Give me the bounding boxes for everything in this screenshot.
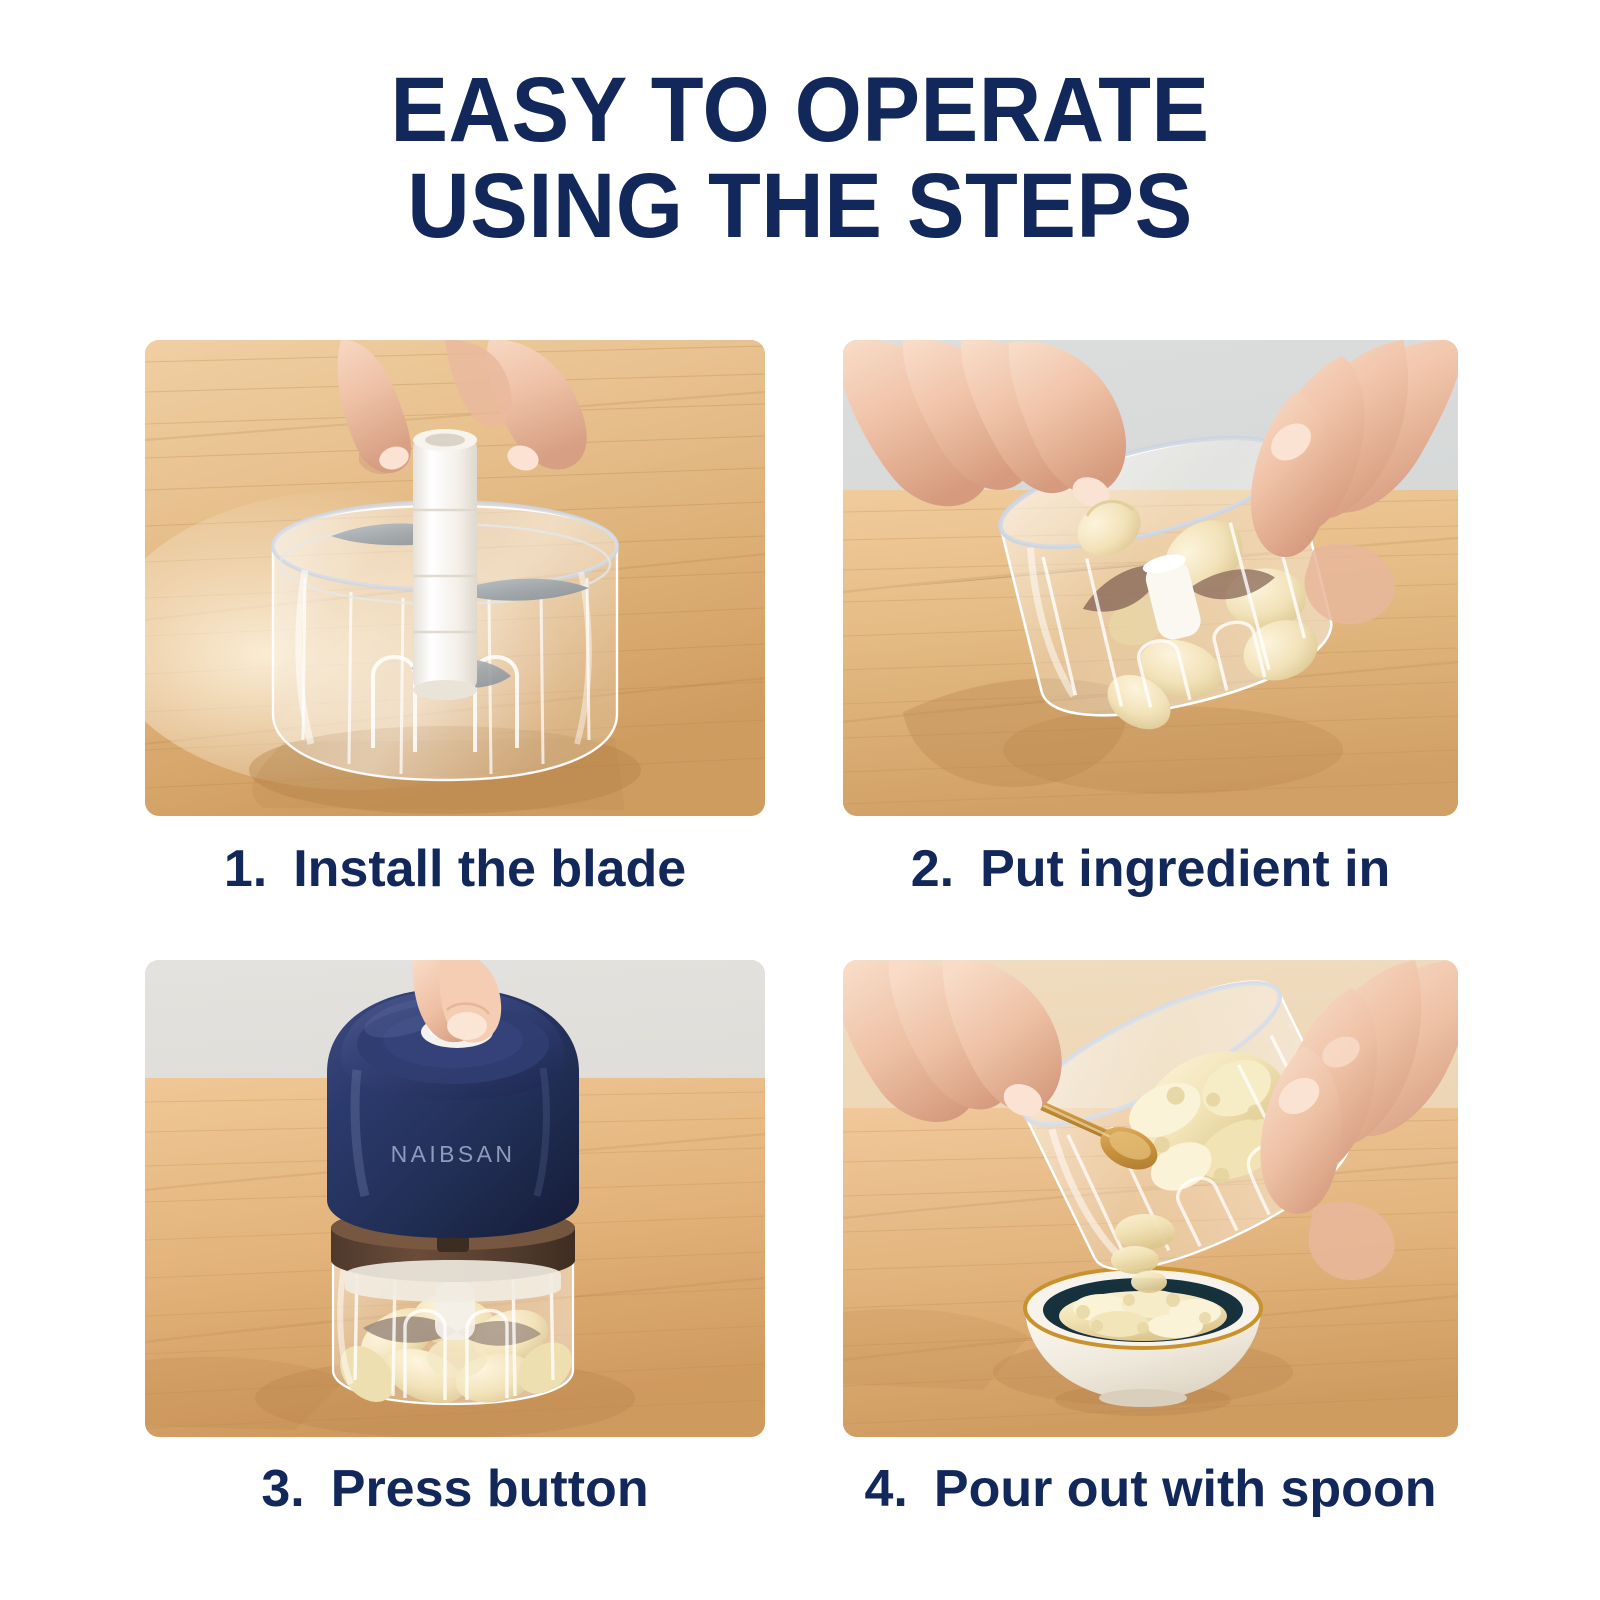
step-4-illustration (843, 960, 1458, 1437)
step-2-illustration (843, 340, 1458, 816)
step-2-photo-card (843, 340, 1458, 816)
step-3-label: Press button (331, 1460, 649, 1518)
step-2-caption: 2.Put ingredient in (843, 840, 1458, 898)
step-3-number: 3. (261, 1460, 304, 1518)
step-2-number: 2. (911, 840, 954, 898)
step-1-label: Install the blade (293, 840, 686, 898)
step-4-label: Pour out with spoon (934, 1460, 1437, 1518)
step-4-photo-card (843, 960, 1458, 1437)
step-4-photo (843, 960, 1458, 1437)
step-3-photo: NAIBSAN (145, 960, 765, 1437)
step-3-photo-card: NAIBSAN (145, 960, 765, 1437)
step-3-illustration: NAIBSAN (145, 960, 765, 1437)
infographic-page: EASY TO OPERATE USING THE STEPS (0, 0, 1600, 1600)
step-2-photo (843, 340, 1458, 816)
step-1-illustration (145, 340, 765, 816)
step-1-photo (145, 340, 765, 816)
step-2-label: Put ingredient in (980, 840, 1390, 898)
step-1-number: 1. (224, 840, 267, 898)
step-4-caption: 4.Pour out with spoon (843, 1460, 1458, 1518)
step-1-photo-card (145, 340, 765, 816)
steps-grid: 1.Install the blade (0, 0, 1600, 1600)
product-brand-text: NAIBSAN (391, 1141, 516, 1167)
step-3-caption: 3.Press button (145, 1460, 765, 1518)
step-4-number: 4. (865, 1460, 908, 1518)
step-1-caption: 1.Install the blade (145, 840, 765, 898)
